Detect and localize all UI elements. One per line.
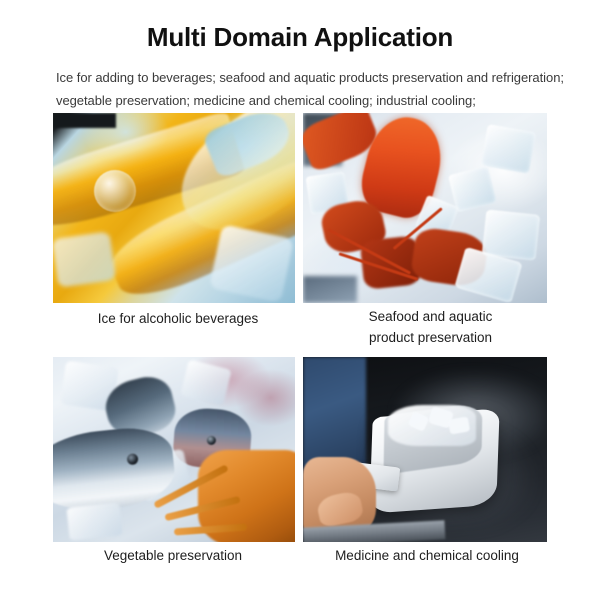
caption-line-1: Seafood and aquatic: [313, 306, 548, 327]
ice-chunk-shape: [180, 360, 231, 406]
caption-medicine-and-chemical-cooling: Medicine and chemical cooling: [305, 545, 549, 566]
gallery-item-vegetable: [53, 357, 295, 542]
application-gallery-grid: Ice for alcoholic beverages Seafood and …: [0, 0, 600, 600]
caption-line-2: product preservation: [313, 327, 548, 348]
fish-eye: [206, 436, 216, 446]
caption-ice-for-alcoholic-beverages: Ice for alcoholic beverages: [53, 308, 303, 329]
photo-dark-corner: [303, 276, 357, 303]
beer-bottles-on-ice-photo: [53, 113, 295, 303]
bubble-highlight: [94, 170, 136, 212]
ice-cube-shape: [480, 124, 535, 174]
fish-and-crab-on-ice-photo: [53, 357, 295, 542]
caption-seafood-and-aquatic-product-preservation: Seafood and aquatic product preservation: [313, 306, 548, 348]
ice-scoop-in-hand-photo: [303, 357, 547, 542]
fish-eye: [127, 453, 139, 465]
product-feature-page: Multi Domain Application Ice for adding …: [0, 0, 600, 600]
caption-vegetable-preservation: Vegetable preservation: [48, 545, 298, 566]
ice-cube-shape: [209, 224, 293, 302]
gallery-item-beverages: [53, 113, 295, 303]
ice-cube-shape: [481, 209, 539, 260]
ice-chunk-shape: [66, 502, 122, 541]
ice-cube-shape: [53, 231, 117, 288]
gallery-item-seafood: [303, 113, 547, 303]
photo-dark-corner: [53, 113, 116, 128]
gallery-item-medicine: [303, 357, 547, 542]
lobster-on-ice-photo: [303, 113, 547, 303]
